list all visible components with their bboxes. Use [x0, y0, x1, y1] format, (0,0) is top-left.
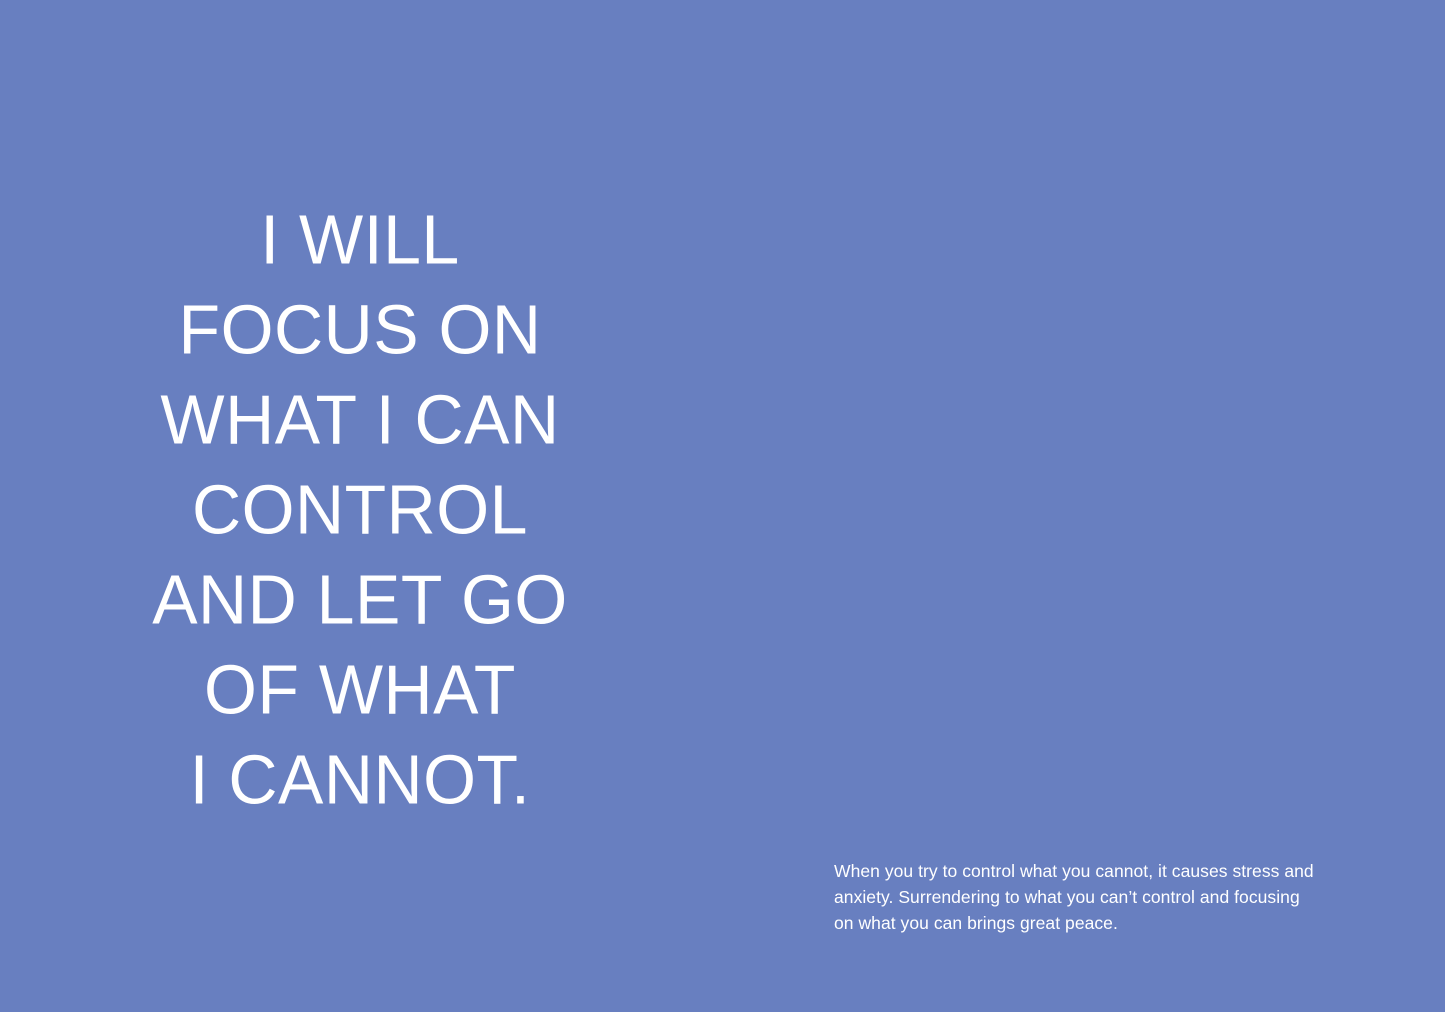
headline-line-2: FOCUS ON	[60, 284, 660, 376]
headline-line-1: I WILL	[60, 194, 660, 286]
headline-line-6: OF WHAT	[60, 644, 660, 736]
caption-line-2: anxiety. Surrendering to what you can’t …	[834, 884, 1339, 910]
headline-line-4: CONTROL	[60, 464, 660, 556]
headline-quote: I WILL FOCUS ON WHAT I CAN CONTROL AND L…	[60, 196, 660, 826]
affirmation-card: I WILL FOCUS ON WHAT I CAN CONTROL AND L…	[0, 0, 1445, 1012]
caption-line-3: on what you can brings great peace.	[834, 910, 1339, 936]
headline-line-7: I CANNOT.	[60, 734, 660, 826]
headline-line-5: AND LET GO	[60, 554, 660, 646]
caption-line-1: When you try to control what you cannot,…	[834, 858, 1339, 884]
caption-description: When you try to control what you cannot,…	[834, 858, 1339, 936]
headline-line-3: WHAT I CAN	[60, 374, 660, 466]
